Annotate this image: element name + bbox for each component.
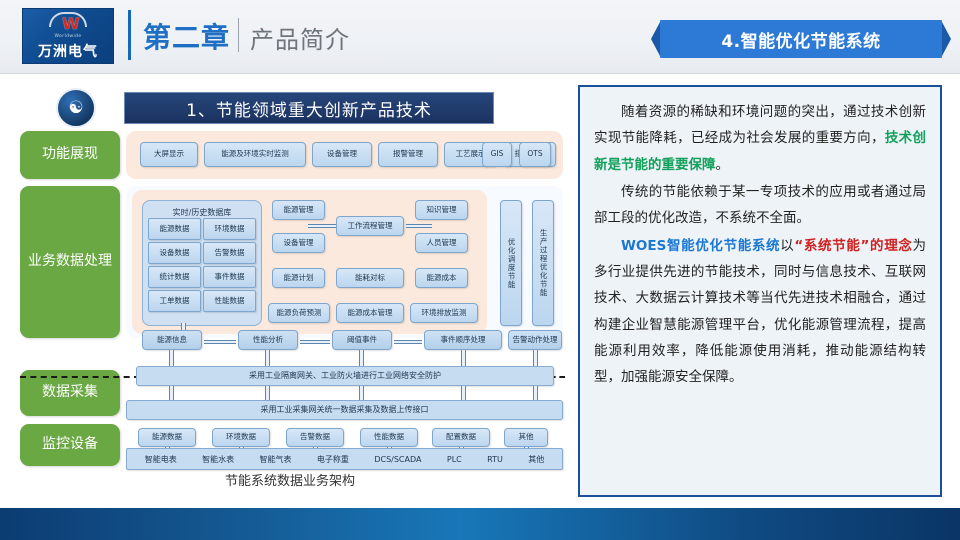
biz-box-benchmark[interactable]: 能耗对标 bbox=[336, 268, 404, 288]
slide-root: W Worldwide 万洲电气 第二章 产品简介 4.智能优化节能系统 ☯ 1… bbox=[0, 0, 960, 540]
func-box-1[interactable]: 能源及环境实时监测 bbox=[204, 142, 306, 167]
device-label-5: PLC bbox=[447, 455, 462, 464]
biz-box-energy-plan[interactable]: 能源计划 bbox=[272, 268, 325, 288]
vert-box-dispatch[interactable]: 优化调度节能 bbox=[500, 200, 522, 326]
biz-box-knowledge[interactable]: 知识管理 bbox=[415, 200, 468, 220]
description-paragraph-1: 随着资源的稀缺和环境问题的突出，通过技术创新实现节能降耗，已经成为社会发展的重要… bbox=[594, 99, 926, 178]
db-item-6[interactable]: 工单数据 bbox=[148, 290, 201, 312]
description-paragraph-2: 传统的节能依赖于某一专项技术的应用或者通过局部工段的优化改造，不系统不全面。 bbox=[594, 179, 926, 232]
collect-box-1[interactable]: 环境数据 bbox=[212, 428, 270, 447]
biz-box-cost-mgmt[interactable]: 能源成本管理 bbox=[336, 303, 404, 323]
hand-bulb-icon: ☯ bbox=[56, 88, 96, 128]
logo-subtext: Worldwide bbox=[54, 34, 81, 39]
func-box-ots[interactable]: OTS bbox=[519, 142, 551, 167]
dashed-line-left bbox=[20, 376, 140, 378]
device-label-6: RTU bbox=[487, 455, 503, 464]
p1-text-a: 随着资源的稀缺和环境问题的突出，通过技术创新实现节能降耗，已经成为社会发展的重要… bbox=[594, 104, 926, 146]
logo-mark-icon: W bbox=[49, 12, 87, 33]
description-panel: 随着资源的稀缺和环境问题的突出，通过技术创新实现节能降耗，已经成为社会发展的重要… bbox=[578, 85, 942, 497]
header-rule bbox=[0, 73, 960, 74]
arrow-to-workflow-right bbox=[406, 223, 432, 229]
section-title: 1、节能领域重大创新产品技术 bbox=[124, 92, 494, 124]
p3-text-b: 以 bbox=[780, 238, 794, 254]
device-label-0: 智能电表 bbox=[145, 454, 177, 465]
func-box-3[interactable]: 报警管理 bbox=[378, 142, 438, 167]
collect-box-5[interactable]: 其他 bbox=[504, 428, 548, 447]
chapter-subtitle: 产品简介 bbox=[250, 20, 350, 55]
collect-box-0[interactable]: 能源数据 bbox=[138, 428, 196, 447]
arrow-sec-1 bbox=[264, 350, 271, 367]
arrow-sec-4 bbox=[532, 350, 539, 367]
flow-box-threshold-event[interactable]: 阈值事件 bbox=[332, 330, 392, 350]
p3-text-d: 为多行业提供先进的节能技术，同时与信息技术、互联网技术、大数据云计算技术等当代先… bbox=[594, 238, 926, 386]
layer-label-function: 功能展现 bbox=[20, 131, 120, 179]
topic-banner: 4.智能优化节能系统 bbox=[660, 20, 942, 58]
biz-box-device-mgmt[interactable]: 设备管理 bbox=[272, 233, 325, 253]
biz-box-workflow[interactable]: 工作流程管理 bbox=[336, 216, 404, 236]
header-accent-bar bbox=[128, 10, 131, 60]
arrow-sec-0 bbox=[168, 350, 175, 367]
arrow-flow-0-1 bbox=[204, 339, 236, 345]
logo-letter: W bbox=[62, 16, 80, 32]
hand-bulb-glyph: ☯ bbox=[68, 100, 83, 117]
db-item-0[interactable]: 能源数据 bbox=[148, 218, 201, 240]
func-box-gis[interactable]: GIS bbox=[482, 142, 512, 167]
architecture-diagram: 功能展现 业务数据处理 数据采集 监控设备 大屏显示 能源及环境实时监测 设备管… bbox=[20, 128, 565, 468]
arrow-sec-2 bbox=[358, 350, 365, 367]
database-title: 实时/历史数据库 bbox=[143, 207, 261, 218]
biz-box-energy-mgmt[interactable]: 能源管理 bbox=[272, 200, 325, 220]
p1-text-b: 。 bbox=[716, 157, 730, 173]
db-item-7[interactable]: 性能数据 bbox=[203, 290, 256, 312]
db-item-2[interactable]: 设备数据 bbox=[148, 242, 201, 264]
arrow-sec-3 bbox=[460, 350, 467, 367]
biz-box-load-forecast[interactable]: 能源负荷预测 bbox=[268, 303, 330, 323]
func-box-0[interactable]: 大屏显示 bbox=[140, 142, 198, 167]
biz-box-personnel[interactable]: 人员管理 bbox=[415, 233, 468, 253]
device-label-2: 智能气表 bbox=[260, 454, 292, 465]
db-item-5[interactable]: 事件数据 bbox=[203, 266, 256, 288]
arrow-flow-2-3 bbox=[394, 339, 422, 345]
p3-concept-highlight: “系统节能”的理念 bbox=[794, 238, 912, 254]
func-box-2[interactable]: 设备管理 bbox=[312, 142, 372, 167]
db-item-3[interactable]: 告警数据 bbox=[203, 242, 256, 264]
device-label-4: DCS/SCADA bbox=[374, 455, 421, 464]
banner-left-tab bbox=[651, 22, 660, 56]
biz-box-energy-cost[interactable]: 能源成本 bbox=[415, 268, 468, 288]
description-text: 随着资源的稀缺和环境问题的突出，通过技术创新实现节能降耗，已经成为社会发展的重要… bbox=[580, 87, 940, 390]
security-gateway-bar[interactable]: 采用工业隔离网关、工业防火墙进行工业网络安全防护 bbox=[136, 366, 554, 386]
db-item-4[interactable]: 统计数据 bbox=[148, 266, 201, 288]
description-paragraph-3: WOES智能优化节能系统以“系统节能”的理念为多行业提供先进的节能技术，同时与信… bbox=[594, 233, 926, 391]
device-label-3: 电子称重 bbox=[317, 454, 349, 465]
diagram-caption: 节能系统数据业务架构 bbox=[150, 470, 430, 489]
arrow-to-workflow-left bbox=[308, 223, 336, 229]
collect-gateway-bar[interactable]: 采用工业采集网关统一数据采集及数据上传接口 bbox=[126, 400, 563, 420]
p3-product-name: WOES智能优化节能系统 bbox=[621, 238, 780, 254]
flow-box-event-sequence[interactable]: 事件顺序处理 bbox=[424, 330, 502, 350]
chapter-divider bbox=[238, 18, 239, 52]
device-bar-labels: 智能电表 智能水表 智能气表 电子称重 DCS/SCADA PLC RTU 其他 bbox=[132, 448, 557, 470]
vert-box-process[interactable]: 生产过程优化节能 bbox=[532, 200, 554, 326]
device-label-1: 智能水表 bbox=[202, 454, 234, 465]
collect-box-2[interactable]: 告警数据 bbox=[286, 428, 344, 447]
biz-box-emission[interactable]: 环境排放监测 bbox=[410, 303, 478, 323]
banner-right-tab bbox=[942, 22, 951, 56]
db-item-1[interactable]: 环境数据 bbox=[203, 218, 256, 240]
company-logo: W Worldwide 万洲电气 bbox=[22, 8, 114, 64]
flow-box-energy-info[interactable]: 能源信息 bbox=[142, 330, 202, 350]
arrow-flow-1-2 bbox=[300, 339, 330, 345]
slide-footer: ☷ ⚙ 📖 致力全面系统节能 服务能管中心建设 - 36 - bbox=[0, 508, 960, 540]
device-label-7: 其他 bbox=[528, 454, 544, 465]
logo-company-name: 万洲电气 bbox=[38, 41, 98, 61]
collect-box-3[interactable]: 性能数据 bbox=[360, 428, 418, 447]
layer-label-business: 业务数据处理 bbox=[20, 186, 120, 338]
collect-box-4[interactable]: 配置数据 bbox=[432, 428, 490, 447]
flow-box-alarm-action[interactable]: 告警动作处理 bbox=[508, 330, 562, 350]
layer-label-device: 监控设备 bbox=[20, 424, 120, 466]
chapter-title: 第二章 bbox=[143, 16, 230, 56]
flow-box-perf-analysis[interactable]: 性能分析 bbox=[238, 330, 298, 350]
